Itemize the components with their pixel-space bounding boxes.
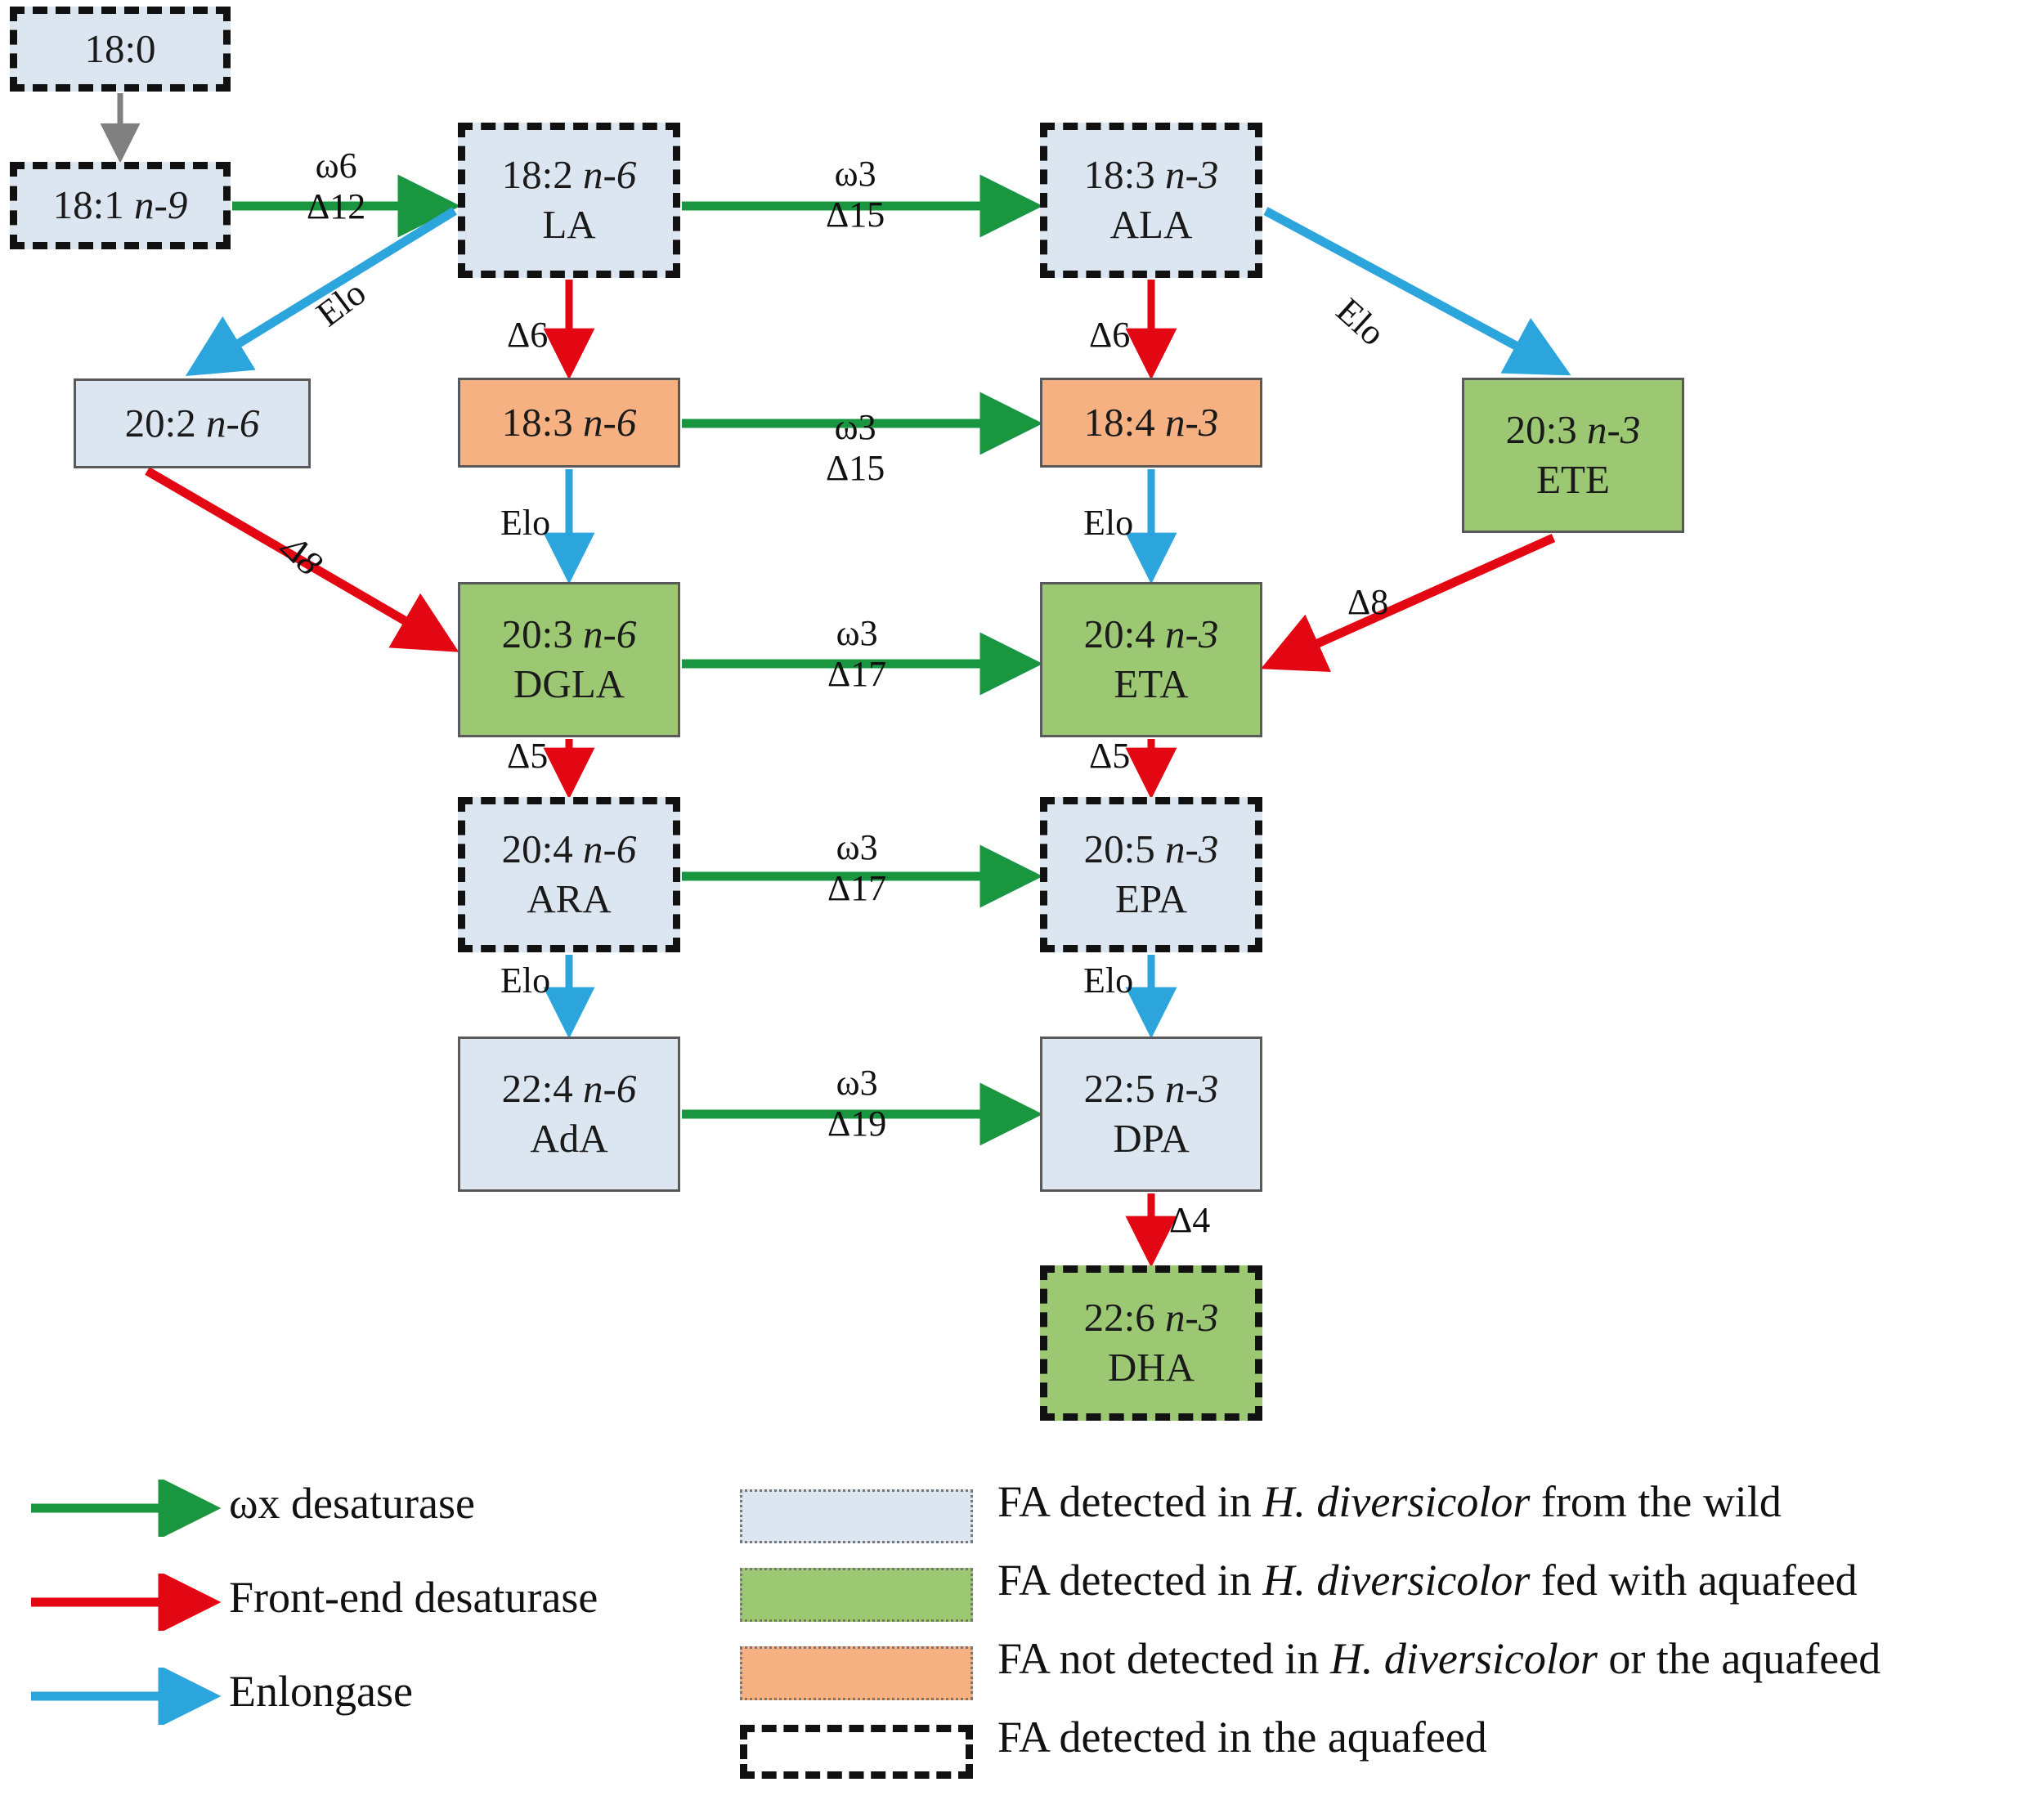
edge-label-omega3-delta17-a: ω3Δ17 [827, 613, 886, 695]
node-label-line1: 20:3 [1506, 407, 1577, 452]
node-dgla[interactable]: 20:3 n-6 DGLA [458, 582, 680, 737]
node-label-line2: LA [542, 203, 595, 248]
node-label-line1: 18:1 [53, 182, 124, 227]
node-label-line1: 18:2 [502, 152, 573, 197]
node-label-line1: 22:4 [502, 1066, 573, 1111]
legend-row-blue-box: FA detected in H. diversicolor from the … [740, 1480, 2032, 1558]
node-label-suffix: n-6 [206, 401, 259, 446]
node-label-line2: ALA [1110, 203, 1193, 248]
node-label-line2: ARA [527, 877, 611, 922]
node-epa[interactable]: 20:5 n-3 EPA [1040, 797, 1262, 952]
pathway-diagram: 18:0 18:1 n-9 20:2 n-6 18:2 n-6 LA 18:3 … [0, 0, 2044, 1800]
edge-label-delta8-a: Δ8 [274, 527, 330, 584]
node-label-suffix: n-9 [134, 182, 187, 227]
node-label-suffix: n-6 [583, 400, 636, 445]
legend-swatch-orange [740, 1646, 973, 1700]
node-label-suffix: n-6 [583, 826, 636, 871]
node-ara[interactable]: 20:4 n-6 ARA [458, 797, 680, 952]
node-label-line2: AdA [530, 1117, 607, 1162]
legend-row-omega-desaturase: ωx desaturase [25, 1480, 760, 1574]
legend-boxes: FA detected in H. diversicolor from the … [740, 1480, 2032, 1793]
legend-label-front-end-desaturase: Front-end desaturase [229, 1572, 598, 1623]
red-arrow-icon [25, 1574, 229, 1631]
node-label-line2: DGLA [513, 662, 625, 707]
node-label-line1: 22:5 [1084, 1066, 1155, 1111]
node-label-suffix: n-6 [583, 152, 636, 197]
edge-label-omega3-delta19: ω3Δ19 [827, 1063, 886, 1144]
edge-label-delta6-b: Δ6 [1089, 315, 1130, 356]
node-dha[interactable]: 22:6 n-3 DHA [1040, 1265, 1262, 1421]
edge-label-delta5-b: Δ5 [1089, 736, 1130, 777]
legend-label-blue: FA detected in H. diversicolor from the … [997, 1476, 1782, 1527]
node-20-2-n-6[interactable]: 20:2 n-6 [74, 378, 311, 468]
edge-ete-to-eta [1272, 538, 1553, 664]
node-label-line1: 20:4 [502, 826, 573, 871]
edge-label-elo-dgla: Elo [500, 503, 550, 544]
legend-label-green: FA detected in H. diversicolor fed with … [997, 1555, 1858, 1605]
edge-ala-to-ete [1266, 211, 1560, 369]
node-label-line1: 18:0 [84, 26, 155, 71]
edge-label-omega3-delta15-b: ω3Δ15 [826, 407, 885, 489]
node-ala[interactable]: 18:3 n-3 ALA [1040, 123, 1262, 278]
legend-row-orange-box: FA not detected in H. diversicolor or th… [740, 1637, 2032, 1715]
edge-label-delta5-a: Δ5 [507, 736, 548, 777]
node-label-line2: DHA [1108, 1346, 1195, 1390]
legend-row-dashed-box: FA detected in the aquafeed [740, 1715, 2032, 1793]
edge-label-elo-ada: Elo [500, 960, 550, 1001]
node-label-suffix: n-3 [1165, 826, 1218, 871]
legend-label-elongase: Enlongase [229, 1666, 413, 1717]
node-label-line1: 18:3 [1084, 152, 1155, 197]
edge-label-omega3-delta15-a: ω3Δ15 [826, 154, 885, 235]
green-arrow-icon [25, 1480, 229, 1537]
node-ada[interactable]: 22:4 n-6 AdA [458, 1037, 680, 1192]
edge-label-delta4: Δ4 [1169, 1200, 1210, 1241]
node-label-line2: EPA [1115, 877, 1187, 922]
node-ete[interactable]: 20:3 n-3 ETE [1462, 378, 1684, 533]
blue-arrow-icon [25, 1668, 229, 1725]
edge-label-elo-202: Elo [309, 272, 374, 335]
node-label-suffix: n-3 [1165, 611, 1218, 656]
node-label-line2: ETE [1536, 458, 1610, 503]
node-label-suffix: n-6 [583, 1066, 636, 1111]
node-label-line1: 22:6 [1084, 1295, 1155, 1340]
edge-label-omega6-delta12: ω6Δ12 [307, 146, 365, 227]
node-label-line1: 20:5 [1084, 826, 1155, 871]
node-label-line1: 18:4 [1084, 400, 1155, 445]
legend-swatch-green [740, 1568, 973, 1622]
legend-swatch-dashed [740, 1725, 973, 1779]
legend-row-elongase: Enlongase [25, 1668, 760, 1762]
legend: ωx desaturase Front-end desaturase Enlon… [0, 1471, 2044, 1800]
node-label-line1: 18:3 [502, 400, 573, 445]
node-18-0[interactable]: 18:0 [10, 7, 231, 92]
node-la[interactable]: 18:2 n-6 LA [458, 123, 680, 278]
edge-label-elo-eta: Elo [1083, 503, 1133, 544]
legend-label-omega-desaturase: ωx desaturase [229, 1478, 475, 1529]
legend-label-orange: FA not detected in H. diversicolor or th… [997, 1633, 1880, 1684]
legend-arrows: ωx desaturase Front-end desaturase Enlon… [25, 1480, 760, 1762]
node-label-suffix: n-3 [1165, 152, 1218, 197]
legend-label-dashed: FA detected in the aquafeed [997, 1712, 1487, 1762]
node-18-4-n-3[interactable]: 18:4 n-3 [1040, 378, 1262, 468]
node-dpa[interactable]: 22:5 n-3 DPA [1040, 1037, 1262, 1192]
node-label-line2: DPA [1113, 1117, 1190, 1162]
edge-label-delta8-b: Δ8 [1347, 582, 1388, 623]
node-label-suffix: n-3 [1165, 1066, 1218, 1111]
edge-label-elo-ete: Elo [1328, 290, 1392, 354]
edge-label-omega3-delta17-b: ω3Δ17 [827, 827, 886, 909]
node-label-line1: 20:3 [502, 611, 573, 656]
node-18-1-n-9[interactable]: 18:1 n-9 [10, 162, 231, 249]
node-18-3-n-6[interactable]: 18:3 n-6 [458, 378, 680, 468]
legend-row-green-box: FA detected in H. diversicolor fed with … [740, 1558, 2032, 1637]
node-label-line1: 20:4 [1084, 611, 1155, 656]
node-label-suffix: n-3 [1165, 400, 1218, 445]
edge-label-delta6-a: Δ6 [507, 315, 548, 356]
legend-swatch-blue [740, 1489, 973, 1543]
node-label-suffix: n-3 [1165, 1295, 1218, 1340]
node-label-line1: 20:2 [125, 401, 196, 446]
node-label-suffix: n-6 [583, 611, 636, 656]
node-eta[interactable]: 20:4 n-3 ETA [1040, 582, 1262, 737]
legend-row-front-end-desaturase: Front-end desaturase [25, 1574, 760, 1668]
node-label-line2: ETA [1114, 662, 1188, 707]
edge-label-elo-dpa: Elo [1083, 960, 1133, 1001]
node-label-suffix: n-3 [1587, 407, 1640, 452]
